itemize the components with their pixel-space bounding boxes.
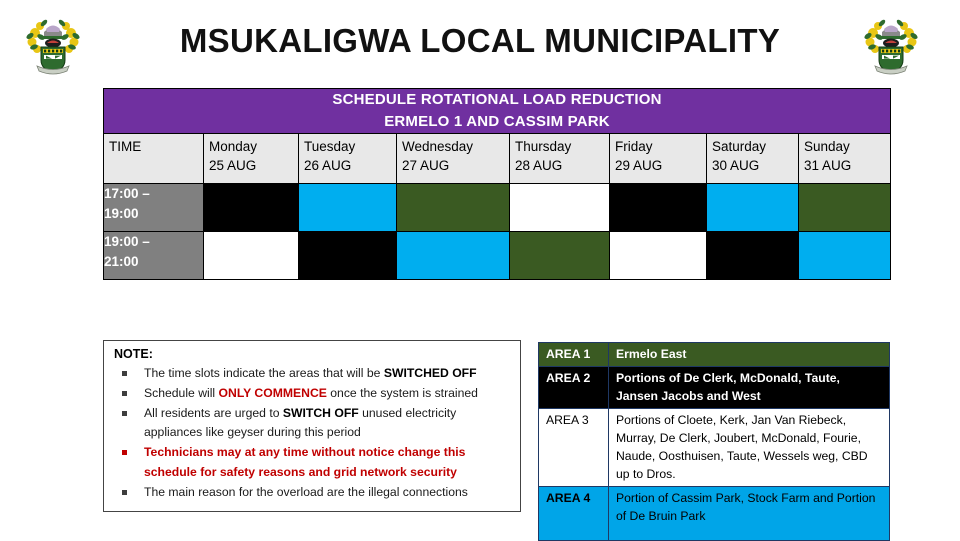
- schedule-slot-row: 17:00 – 19:00: [104, 183, 891, 231]
- schedule-cell-blue: [397, 231, 510, 279]
- day-header-friday: Friday 29 AUG: [610, 133, 707, 183]
- day-header-thursday: Thursday 28 AUG: [510, 133, 610, 183]
- day-header-wednesday: Wednesday 27 AUG: [397, 133, 510, 183]
- note-text: Schedule will: [144, 386, 219, 400]
- area-label: AREA 4: [539, 487, 609, 541]
- day-date: 28 AUG: [515, 156, 604, 176]
- note-text: SWITCHED OFF: [384, 366, 477, 380]
- day-header-saturday: Saturday 30 AUG: [707, 133, 799, 183]
- day-name: Sunday: [804, 139, 850, 154]
- schedule-slot-row: 19:00 – 21:00: [104, 231, 891, 279]
- bullet-icon: [122, 371, 127, 376]
- bullet-icon: [122, 450, 127, 455]
- area-description: Portion of Cassim Park, Stock Farm and P…: [609, 487, 890, 541]
- schedule-cell-blue: [707, 183, 799, 231]
- load-reduction-schedule-table: SCHEDULE ROTATIONAL LOAD REDUCTION ERMEL…: [103, 88, 891, 280]
- day-name: Thursday: [515, 139, 571, 154]
- area-label: AREA 1: [539, 343, 609, 367]
- day-header-sunday: Sunday 31 AUG: [799, 133, 891, 183]
- note-item: The time slots indicate the areas that w…: [114, 364, 512, 384]
- schedule-cell-green: [397, 183, 510, 231]
- day-name: Saturday: [712, 139, 766, 154]
- day-name: Friday: [615, 139, 653, 154]
- time-column-header: TIME: [104, 133, 204, 183]
- schedule-cell-black: [204, 183, 299, 231]
- day-date: 31 AUG: [804, 156, 885, 176]
- note-item: All residents are urged to SWITCH OFF un…: [114, 404, 512, 444]
- day-name: Monday: [209, 139, 257, 154]
- schedule-cell-black: [610, 183, 707, 231]
- schedule-banner-row: SCHEDULE ROTATIONAL LOAD REDUCTION ERMEL…: [104, 89, 891, 134]
- day-header-tuesday: Tuesday 26 AUG: [299, 133, 397, 183]
- time-slot-start: 19:00 –: [104, 234, 150, 249]
- bullet-icon: [122, 411, 127, 416]
- area-description: Ermelo East: [609, 343, 890, 367]
- day-date: 25 AUG: [209, 156, 293, 176]
- area-row-4: AREA 4 Portion of Cassim Park, Stock Far…: [539, 487, 890, 541]
- day-date: 30 AUG: [712, 156, 793, 176]
- day-date: 26 AUG: [304, 156, 391, 176]
- area-definition-table: AREA 1 Ermelo East AREA 2 Portions of De…: [538, 342, 890, 541]
- note-text: All residents are urged to: [144, 406, 283, 420]
- area-row-1: AREA 1 Ermelo East: [539, 343, 890, 367]
- municipality-coat-of-arms-icon-left: [24, 16, 82, 76]
- note-text: The time slots indicate the areas that w…: [144, 366, 384, 380]
- note-item: The main reason for the overload are the…: [114, 483, 512, 503]
- bullet-icon: [122, 490, 127, 495]
- schedule-cell-white: [510, 183, 610, 231]
- page-title: MSUKALIGWA LOCAL MUNICIPALITY: [150, 22, 810, 60]
- bullet-icon: [122, 391, 127, 396]
- note-list: The time slots indicate the areas that w…: [114, 364, 512, 502]
- time-slot-start: 17:00 –: [104, 186, 150, 201]
- schedule-cell-black: [707, 231, 799, 279]
- note-text: ONLY COMMENCE: [219, 386, 327, 400]
- area-description: Portions of De Clerk, McDonald, Taute, J…: [609, 367, 890, 409]
- time-slot-label: 19:00 – 21:00: [104, 231, 204, 279]
- schedule-cell-blue: [299, 183, 397, 231]
- schedule-cell-green: [799, 183, 891, 231]
- note-item: Schedule will ONLY COMMENCE once the sys…: [114, 384, 512, 404]
- day-header-monday: Monday 25 AUG: [204, 133, 299, 183]
- note-item: Technicians may at any time without noti…: [114, 443, 512, 483]
- day-name: Tuesday: [304, 139, 355, 154]
- schedule-banner: SCHEDULE ROTATIONAL LOAD REDUCTION ERMEL…: [104, 89, 891, 134]
- day-name: Wednesday: [402, 139, 473, 154]
- schedule-cell-white: [610, 231, 707, 279]
- page-header: MSUKALIGWA LOCAL MUNICIPALITY: [0, 0, 960, 88]
- time-slot-end: 21:00: [104, 252, 203, 273]
- area-row-2: AREA 2 Portions of De Clerk, McDonald, T…: [539, 367, 890, 409]
- schedule-cell-white: [204, 231, 299, 279]
- area-row-3: AREA 3 Portions of Cloete, Kerk, Jan Van…: [539, 409, 890, 487]
- time-slot-label: 17:00 – 19:00: [104, 183, 204, 231]
- day-date: 27 AUG: [402, 156, 504, 176]
- municipality-coat-of-arms-icon-right: [862, 16, 920, 76]
- schedule-header-row: TIME Monday 25 AUG Tuesday 26 AUG Wednes…: [104, 133, 891, 183]
- schedule-banner-line1: SCHEDULE ROTATIONAL LOAD REDUCTION: [332, 91, 661, 108]
- time-slot-end: 19:00: [104, 204, 203, 225]
- day-date: 29 AUG: [615, 156, 701, 176]
- area-label: AREA 3: [539, 409, 609, 487]
- area-description: Portions of Cloete, Kerk, Jan Van Riebec…: [609, 409, 890, 487]
- note-text: SWITCH OFF: [283, 406, 359, 420]
- note-text: The main reason for the overload are the…: [144, 485, 468, 499]
- schedule-cell-blue: [799, 231, 891, 279]
- schedule-banner-line2: ERMELO 1 AND CASSIM PARK: [104, 111, 890, 133]
- note-text: once the system is strained: [327, 386, 478, 400]
- schedule-cell-black: [299, 231, 397, 279]
- schedule-cell-green: [510, 231, 610, 279]
- note-box: NOTE: The time slots indicate the areas …: [103, 340, 521, 512]
- area-label: AREA 2: [539, 367, 609, 409]
- note-title: NOTE:: [114, 347, 512, 361]
- note-text: Technicians may at any time without noti…: [144, 445, 465, 479]
